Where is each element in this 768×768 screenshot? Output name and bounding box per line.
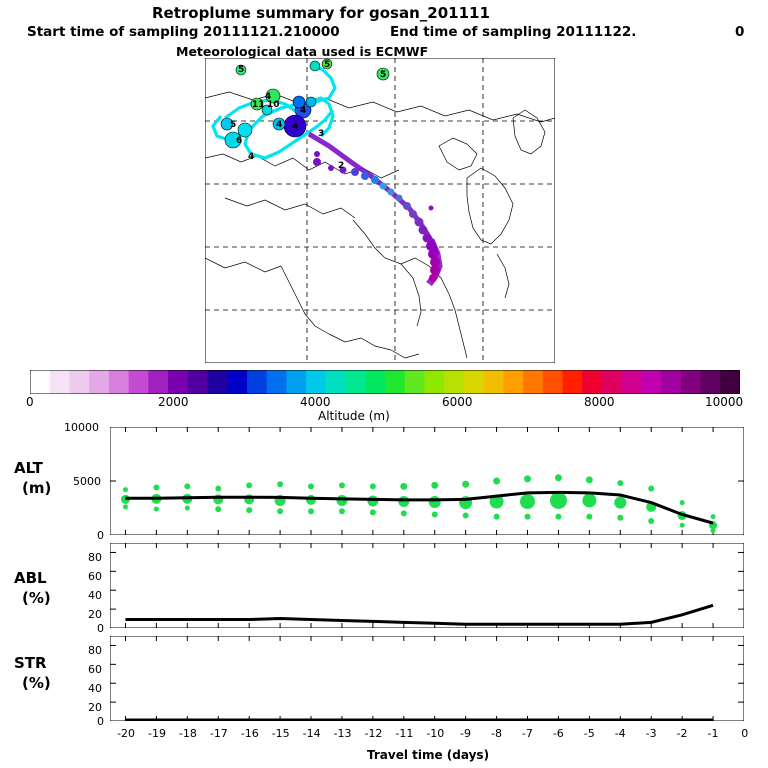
svg-text:4: 4 — [276, 120, 282, 130]
colorbar-swatch — [484, 370, 504, 394]
x-tick-label: -16 — [241, 727, 259, 740]
str-panel-unit: (%) — [22, 674, 51, 692]
alt-cluster-point — [524, 475, 531, 482]
abl-panel-title: ABL — [14, 569, 47, 587]
colorbar-swatch — [602, 370, 622, 394]
met-data-label: Meteorological data used is ECMWF — [176, 44, 428, 59]
alt-cluster-point — [215, 486, 221, 492]
x-tick-label: -1 — [707, 727, 718, 740]
abl-ytick-0: 0 — [97, 622, 104, 635]
colorbar-swatch — [523, 370, 543, 394]
alt-cluster-point — [370, 483, 376, 489]
str-ytick-20: 20 — [88, 701, 102, 714]
colorbar-label: Altitude (m) — [318, 409, 390, 423]
alt-cluster-point — [582, 493, 596, 507]
colorbar-svg — [30, 370, 740, 394]
alt-cluster-point — [680, 500, 685, 505]
alt-cluster-point — [617, 515, 623, 521]
alt-cluster-point — [711, 528, 716, 533]
colorbar-swatch — [622, 370, 642, 394]
svg-text:5: 5 — [324, 60, 330, 70]
alt-cluster-point — [555, 474, 562, 481]
svg-text:11: 11 — [252, 100, 265, 110]
colorbar-swatch — [464, 370, 484, 394]
x-tick-label: -20 — [117, 727, 135, 740]
alt-cluster-point — [648, 486, 654, 492]
colorbar-tick-0: 0 — [26, 395, 34, 409]
alt-cluster-point — [432, 511, 438, 517]
end-time-label: End time of sampling 20111122. — [390, 24, 636, 40]
alt-cluster-point — [370, 509, 376, 515]
svg-text:6: 6 — [236, 136, 242, 146]
colorbar-tick-3: 6000 — [442, 395, 473, 409]
x-tick-label: -5 — [584, 727, 595, 740]
str-ytick-40: 40 — [88, 682, 102, 695]
alt-cluster-point — [153, 484, 159, 490]
alt-cluster-point — [184, 483, 190, 489]
colorbar-swatch — [148, 370, 168, 394]
x-tick-label: -13 — [334, 727, 352, 740]
alt-cluster-point — [215, 506, 221, 512]
alt-cluster-point — [277, 508, 283, 514]
colorbar-swatch — [405, 370, 425, 394]
abl-ytick-20: 20 — [88, 608, 102, 621]
abl-ytick-40: 40 — [88, 589, 102, 602]
alt-cluster-point — [586, 514, 592, 520]
x-tick-label: -7 — [522, 727, 533, 740]
x-tick-label: -8 — [491, 727, 502, 740]
alt-cluster-point — [123, 504, 128, 509]
alt-cluster-point — [154, 507, 159, 512]
alt-cluster-point — [246, 482, 252, 488]
svg-text:2: 2 — [338, 161, 344, 171]
alt-cluster-point — [400, 483, 407, 490]
colorbar-tick-5: 10000 — [705, 395, 743, 409]
str-panel — [110, 636, 744, 721]
alt-cluster-point — [586, 476, 593, 483]
x-tick-label: -3 — [646, 727, 657, 740]
alt-cluster-point — [246, 507, 252, 513]
alt-ytick-0: 0 — [97, 529, 104, 542]
svg-text:5: 5 — [380, 70, 386, 80]
alt-plot-svg — [110, 427, 744, 535]
alt-ytick-5000: 5000 — [73, 475, 101, 488]
abl-ytick-80: 80 — [88, 551, 102, 564]
colorbar-swatch — [267, 370, 287, 394]
x-tick-label: -9 — [460, 727, 471, 740]
alt-cluster-point — [431, 482, 438, 489]
colorbar-tick-2: 4000 — [300, 395, 331, 409]
colorbar-swatch — [444, 370, 464, 394]
svg-text:10: 10 — [267, 100, 280, 110]
alt-cluster-point — [336, 495, 347, 506]
alt-cluster-point — [462, 481, 469, 488]
alt-cluster-point — [306, 495, 316, 505]
x-tick-label: -18 — [179, 727, 197, 740]
alt-cluster-point — [339, 482, 345, 488]
colorbar-swatch — [109, 370, 129, 394]
alt-cluster-point — [367, 495, 378, 506]
colorbar-swatch — [168, 370, 188, 394]
colorbar-swatch — [365, 370, 385, 394]
colorbar-swatch — [326, 370, 346, 394]
abl-panel-unit: (%) — [22, 589, 51, 607]
x-axis-label: Travel time (days) — [367, 748, 489, 762]
alt-cluster-point — [648, 518, 654, 524]
alt-cluster-point — [555, 514, 561, 520]
colorbar-swatch — [641, 370, 661, 394]
alt-cluster-point — [123, 487, 128, 492]
colorbar-swatch — [681, 370, 701, 394]
x-tick-label: -12 — [364, 727, 382, 740]
colorbar-swatch — [188, 370, 208, 394]
x-tick-label: -10 — [426, 727, 444, 740]
x-tick-label: -6 — [553, 727, 564, 740]
colorbar-swatch — [306, 370, 326, 394]
alt-cluster-point — [429, 496, 441, 508]
str-plot-svg — [110, 636, 744, 721]
svg-text:5: 5 — [238, 65, 244, 75]
alt-cluster-point — [339, 508, 345, 514]
colorbar-swatch — [208, 370, 228, 394]
alt-cluster-point — [614, 497, 626, 509]
x-tick-label: -19 — [148, 727, 166, 740]
alt-cluster-point — [711, 514, 716, 519]
colorbar-tick-1: 2000 — [158, 395, 189, 409]
colorbar-swatch — [661, 370, 681, 394]
alt-cluster-point — [277, 481, 283, 487]
svg-text:4: 4 — [292, 122, 298, 132]
alt-panel-title: ALT — [14, 459, 43, 477]
alt-panel — [110, 427, 744, 535]
alt-cluster-point — [308, 483, 314, 489]
x-tick-label: -2 — [677, 727, 688, 740]
alt-cluster-point — [550, 492, 567, 509]
colorbar-swatch — [424, 370, 444, 394]
map-panel: 5 5 5 4 11 10 4 5 6 4 4 4 3 2 — [205, 58, 555, 363]
start-time-label: Start time of sampling 20111121.210000 — [27, 24, 340, 40]
colorbar-swatch — [385, 370, 405, 394]
end-time-value: 0 — [735, 24, 744, 40]
alt-cluster-point — [680, 523, 685, 528]
svg-text:3: 3 — [318, 129, 324, 139]
colorbar-swatch — [286, 370, 306, 394]
x-tick-label: -4 — [615, 727, 626, 740]
svg-text:4: 4 — [300, 106, 306, 116]
alt-cluster-point — [617, 480, 623, 486]
colorbar-swatch — [503, 370, 523, 394]
colorbar-swatch — [701, 370, 721, 394]
map-svg: 5 5 5 4 11 10 4 5 6 4 4 4 3 2 — [205, 58, 555, 363]
alt-cluster-point — [494, 514, 500, 520]
x-tick-label: 0 — [741, 727, 748, 740]
x-tick-label: -15 — [272, 727, 290, 740]
colorbar-swatch — [227, 370, 247, 394]
colorbar-swatch — [30, 370, 50, 394]
alt-cluster-point — [463, 513, 469, 519]
x-tick-label: -14 — [303, 727, 321, 740]
svg-text:5: 5 — [230, 120, 236, 130]
colorbar-swatch — [69, 370, 89, 394]
x-tick-label: -17 — [210, 727, 228, 740]
str-ytick-60: 60 — [88, 663, 102, 676]
colorbar-swatch — [563, 370, 583, 394]
alt-cluster-point — [401, 510, 407, 516]
colorbar-swatch — [582, 370, 602, 394]
colorbar-swatch — [346, 370, 366, 394]
alt-cluster-point — [308, 508, 314, 514]
colorbar-swatch — [129, 370, 149, 394]
page-title: Retroplume summary for gosan_201111 — [152, 4, 490, 22]
str-panel-title: STR — [14, 654, 47, 672]
alt-cluster-point — [398, 496, 409, 507]
x-axis-tick-labels: -20-19-18-17-16-15-14-13-12-11-10-9-8-7-… — [0, 727, 768, 743]
alt-ytick-10000: 10000 — [64, 421, 99, 434]
alt-cluster-point — [525, 514, 531, 520]
abl-plot-svg — [110, 543, 744, 628]
alt-cluster-point — [493, 478, 500, 485]
svg-text:4: 4 — [248, 152, 254, 162]
colorbar-swatch — [89, 370, 109, 394]
x-tick-label: -11 — [395, 727, 413, 740]
colorbar-swatch — [720, 370, 740, 394]
colorbar-swatch — [50, 370, 70, 394]
abl-panel — [110, 543, 744, 628]
colorbar-tick-4: 8000 — [584, 395, 615, 409]
abl-ytick-60: 60 — [88, 570, 102, 583]
alt-panel-unit: (m) — [22, 479, 51, 497]
colorbar — [30, 370, 740, 394]
str-ytick-80: 80 — [88, 644, 102, 657]
alt-cluster-point — [185, 506, 190, 511]
alt-cluster-point — [520, 494, 535, 509]
colorbar-swatch — [247, 370, 267, 394]
colorbar-swatch — [543, 370, 563, 394]
